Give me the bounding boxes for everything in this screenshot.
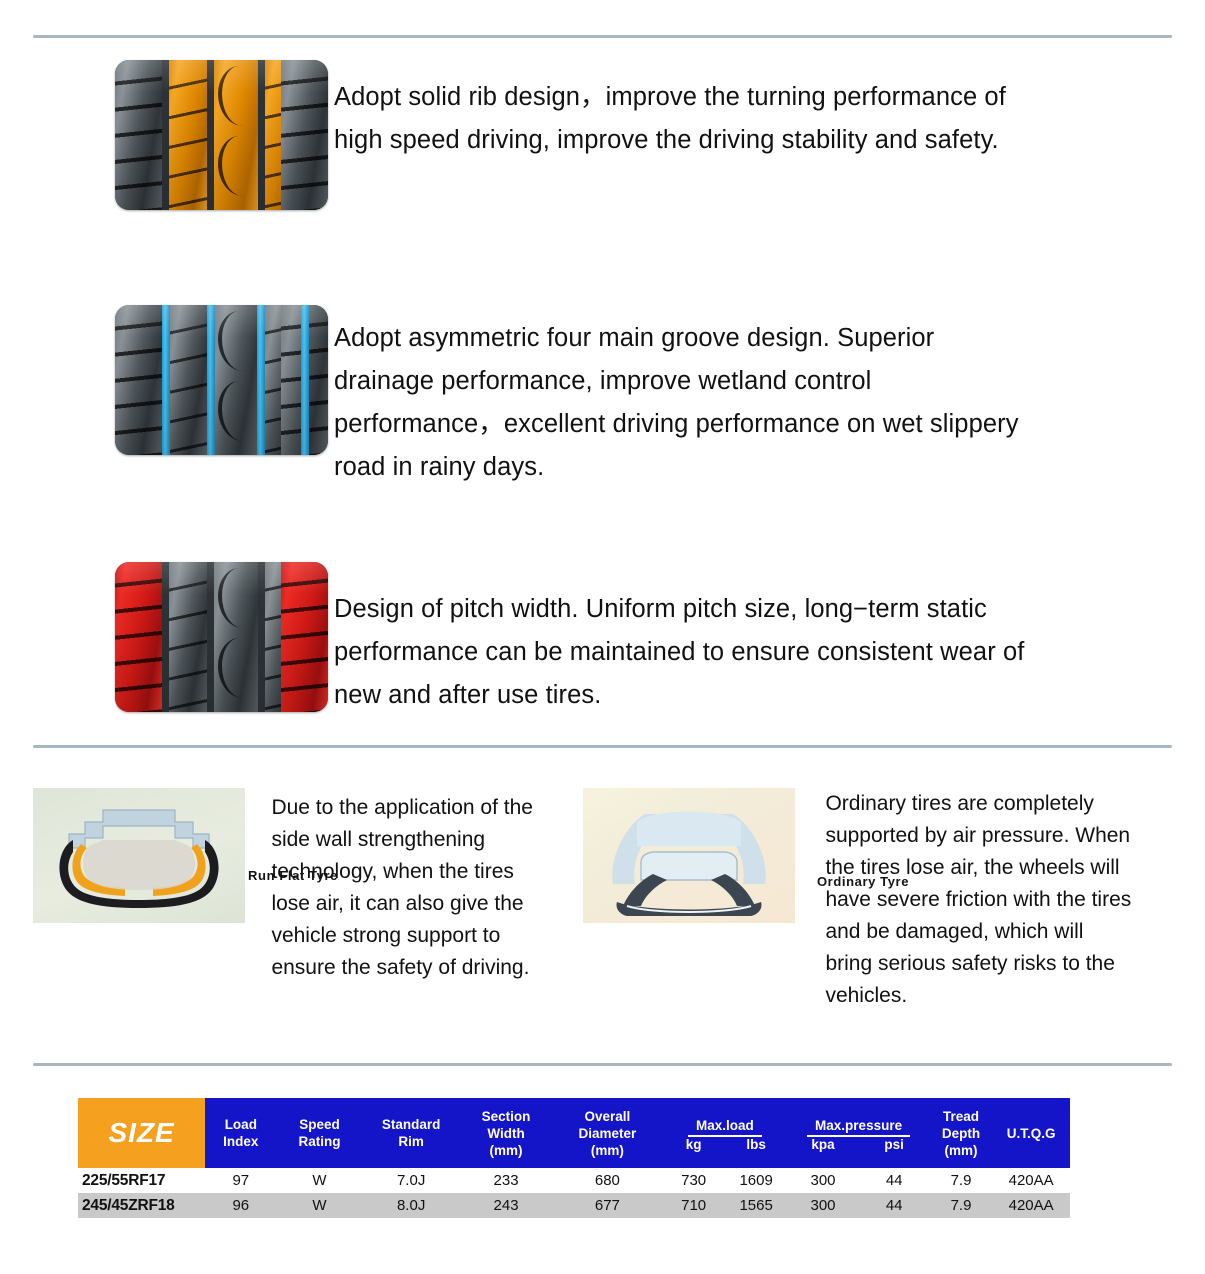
header-max-load-group: Max.load: [662, 1098, 787, 1137]
cell-load-index: 96: [205, 1193, 276, 1218]
cell-standard-rim: 8.0J: [363, 1193, 460, 1218]
comparison-ordinary: Ordinary Tyre Ordinary tires are complet…: [583, 788, 1143, 1012]
spec-header-row-top: SIZE Load Index Speed Rating Standard Ri…: [78, 1098, 1070, 1137]
divider-bottom: [33, 1063, 1172, 1066]
tread-thumb-wrap-blue: [108, 305, 334, 455]
tread-image-solid-rib: [115, 60, 328, 210]
feature-row-pitch-width: Design of pitch width. Uniform pitch siz…: [108, 562, 1034, 717]
tyre-crown-shape: [637, 812, 741, 847]
run-flat-cross-section-icon: [33, 788, 245, 923]
tread-shoulder-rib-left: [115, 305, 162, 455]
header-section-width-line3: (mm): [460, 1142, 553, 1159]
table-row: 245/45ZRF18 96 W 8.0J 243 677 710 1565 3…: [78, 1193, 1070, 1218]
header-speed-rating-line2: Rating: [276, 1133, 362, 1150]
header-max-pressure-title: Max.pressure: [807, 1118, 910, 1137]
feature-row-solid-rib: Adopt solid rib design，improve the turni…: [108, 60, 1034, 210]
feature-text-solid-rib: Adopt solid rib design，improve the turni…: [334, 60, 1034, 162]
header-max-load-title: Max.load: [688, 1118, 762, 1137]
header-standard-rim: Standard Rim: [363, 1098, 460, 1168]
header-tread-depth-line2: Depth: [930, 1125, 993, 1142]
cell-max-pressure-psi: 44: [859, 1193, 930, 1218]
cell-section-width: 233: [460, 1168, 553, 1193]
tread-shoulder-rib-left: [115, 562, 162, 712]
feature-row-asymmetric-groove: Adopt asymmetric four main groove design…: [108, 305, 1034, 489]
tread-arc-sipe-icon: [218, 638, 258, 698]
header-max-pressure-psi: psi: [859, 1137, 930, 1168]
header-load-index-line2: Index: [205, 1133, 276, 1150]
tread-arc-sipe-icon: [218, 136, 258, 196]
header-max-pressure-kpa: kpa: [787, 1137, 858, 1168]
header-speed-rating: Speed Rating: [276, 1098, 362, 1168]
header-max-load-kg: kg: [662, 1137, 725, 1168]
header-load-index-line1: Load: [205, 1116, 276, 1133]
run-flat-tyre-diagram: [33, 788, 245, 923]
cell-load-index: 97: [205, 1168, 276, 1193]
header-max-pressure-group: Max.pressure: [787, 1098, 929, 1137]
header-section-width-line2: Width: [460, 1125, 553, 1142]
header-size: SIZE: [78, 1098, 205, 1168]
cell-utqg: 420AA: [992, 1193, 1070, 1218]
header-max-load-lbs: lbs: [725, 1137, 788, 1168]
header-tread-depth: Tread Depth (mm): [930, 1098, 993, 1168]
tread-inner-rib-left: [169, 562, 207, 712]
cell-max-load-lbs: 1565: [725, 1193, 788, 1218]
cell-section-width: 243: [460, 1193, 553, 1218]
cell-speed-rating: W: [276, 1193, 362, 1218]
cell-size: 245/45ZRF18: [78, 1193, 205, 1218]
header-overall-diameter-line2: Diameter: [552, 1125, 662, 1142]
tread-inner-rib-left: [169, 305, 207, 455]
cell-overall-diameter: 677: [552, 1193, 662, 1218]
spec-table-body: 225/55RF17 97 W 7.0J 233 680 730 1609 30…: [78, 1168, 1070, 1218]
header-section-width: Section Width (mm): [460, 1098, 553, 1168]
header-overall-diameter-line1: Overall: [552, 1108, 662, 1125]
cell-max-load-lbs: 1609: [725, 1168, 788, 1193]
ordinary-tyre-cross-section-icon: [583, 788, 795, 923]
ordinary-tyre-diagram: [583, 788, 795, 923]
tread-center-rib: [214, 60, 258, 210]
header-overall-diameter: Overall Diameter (mm): [552, 1098, 662, 1168]
tread-inner-rib-left: [169, 60, 207, 210]
tread-shoulder-rib-right: [281, 562, 328, 712]
cell-standard-rim: 7.0J: [363, 1168, 460, 1193]
tread-arc-sipe-icon: [218, 66, 258, 126]
main-groove-3: [257, 305, 265, 455]
tread-image-asymmetric-groove: [115, 305, 328, 455]
header-speed-rating-line1: Speed: [276, 1116, 362, 1133]
tread-center-rib: [214, 562, 258, 712]
ordinary-description: Ordinary tires are completely supported …: [825, 788, 1135, 1012]
tread-arc-sipe-icon: [218, 381, 258, 441]
main-groove-2: [207, 305, 215, 455]
cell-tread-depth: 7.9: [930, 1193, 993, 1218]
specification-table: SIZE Load Index Speed Rating Standard Ri…: [78, 1098, 1070, 1218]
header-section-width-line1: Section: [460, 1108, 553, 1125]
header-tread-depth-line1: Tread: [930, 1108, 993, 1125]
divider-middle: [33, 745, 1172, 748]
header-load-index: Load Index: [205, 1098, 276, 1168]
tread-arc-sipe-icon: [218, 568, 258, 628]
tread-arc-sipe-icon: [218, 311, 258, 371]
divider-top: [33, 35, 1172, 38]
tread-shoulder-rib-left: [115, 60, 162, 210]
cell-max-pressure-psi: 44: [859, 1168, 930, 1193]
cell-max-load-kg: 710: [662, 1193, 725, 1218]
feature-text-pitch-width: Design of pitch width. Uniform pitch siz…: [334, 562, 1034, 717]
run-flat-description: Due to the application of the side wall …: [271, 788, 543, 984]
header-tread-depth-line3: (mm): [930, 1142, 993, 1159]
header-standard-rim-line1: Standard: [363, 1116, 460, 1133]
cell-speed-rating: W: [276, 1168, 362, 1193]
cell-tread-depth: 7.9: [930, 1168, 993, 1193]
cell-utqg: 420AA: [992, 1168, 1070, 1193]
cell-size: 225/55RF17: [78, 1168, 205, 1193]
main-groove-4: [301, 305, 309, 455]
header-utqg: U.T.Q.G: [992, 1098, 1070, 1168]
tread-center-rib: [214, 305, 258, 455]
header-standard-rim-line2: Rim: [363, 1133, 460, 1150]
cell-max-pressure-kpa: 300: [787, 1168, 858, 1193]
tread-image-pitch-width: [115, 562, 328, 712]
cell-max-load-kg: 730: [662, 1168, 725, 1193]
cell-overall-diameter: 680: [552, 1168, 662, 1193]
tread-shoulder-rib-right: [281, 60, 328, 210]
comparison-run-flat: Run Flat Tyre Due to the application of …: [33, 788, 553, 984]
tread-thumb-wrap-red: [108, 562, 334, 712]
spec-table-head: SIZE Load Index Speed Rating Standard Ri…: [78, 1098, 1070, 1168]
feature-text-asymmetric-groove: Adopt asymmetric four main groove design…: [334, 305, 1034, 489]
ordinary-tyre-label: Ordinary Tyre: [583, 874, 1143, 889]
run-flat-tyre-label: Run Flat Tyre: [33, 868, 553, 883]
tread-thumb-wrap-orange: [108, 60, 334, 210]
header-overall-diameter-line3: (mm): [552, 1142, 662, 1159]
cell-max-pressure-kpa: 300: [787, 1193, 858, 1218]
table-row: 225/55RF17 97 W 7.0J 233 680 730 1609 30…: [78, 1168, 1070, 1193]
main-groove-1: [162, 305, 170, 455]
